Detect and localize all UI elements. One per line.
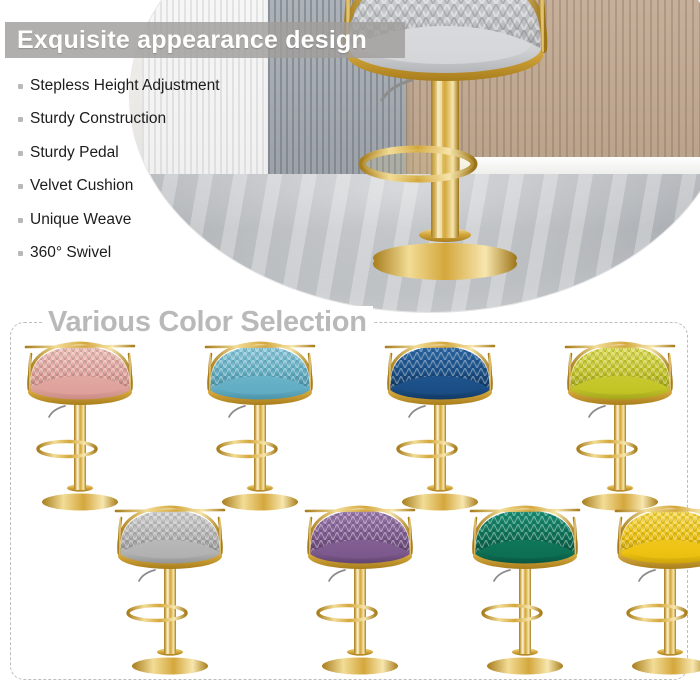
color-swatch-yellow[interactable] [595,500,700,678]
feature-label: Velvet Cushion [30,176,133,196]
feature-item: Unique Weave [18,210,253,230]
feature-label: Sturdy Pedal [30,143,119,163]
color-swatch-navy-blue[interactable] [365,336,515,514]
bullet-icon [18,84,23,89]
product-infographic: Exquisite appearance design Stepless Hei… [0,0,700,700]
feature-label: Sturdy Construction [30,109,166,129]
feature-item: Sturdy Construction [18,109,253,129]
feature-item: Stepless Height Adjustment [18,76,253,96]
page-title: Exquisite appearance design [5,26,367,55]
bullet-icon [18,251,23,256]
bullet-icon [18,184,23,189]
bullet-icon [18,117,23,122]
feature-item: Sturdy Pedal [18,143,253,163]
color-selection-heading: Various Color Selection [42,306,373,339]
color-swatch-chartreuse[interactable] [545,336,695,514]
feature-item: Velvet Cushion [18,176,253,196]
color-swatch-emerald[interactable] [450,500,600,678]
bullet-icon [18,151,23,156]
feature-label: 360° Swivel [30,243,111,263]
color-swatch-grid [0,322,700,682]
feature-label: Unique Weave [30,210,131,230]
feature-item: 360° Swivel [18,243,253,263]
color-swatch-light-blue[interactable] [185,336,335,514]
color-swatch-grey[interactable] [95,500,245,678]
title-banner: Exquisite appearance design [5,22,405,58]
feature-list: Stepless Height Adjustment Sturdy Constr… [18,76,253,277]
feature-label: Stepless Height Adjustment [30,76,220,96]
color-swatch-pink[interactable] [5,336,155,514]
bullet-icon [18,218,23,223]
color-swatch-purple[interactable] [285,500,435,678]
